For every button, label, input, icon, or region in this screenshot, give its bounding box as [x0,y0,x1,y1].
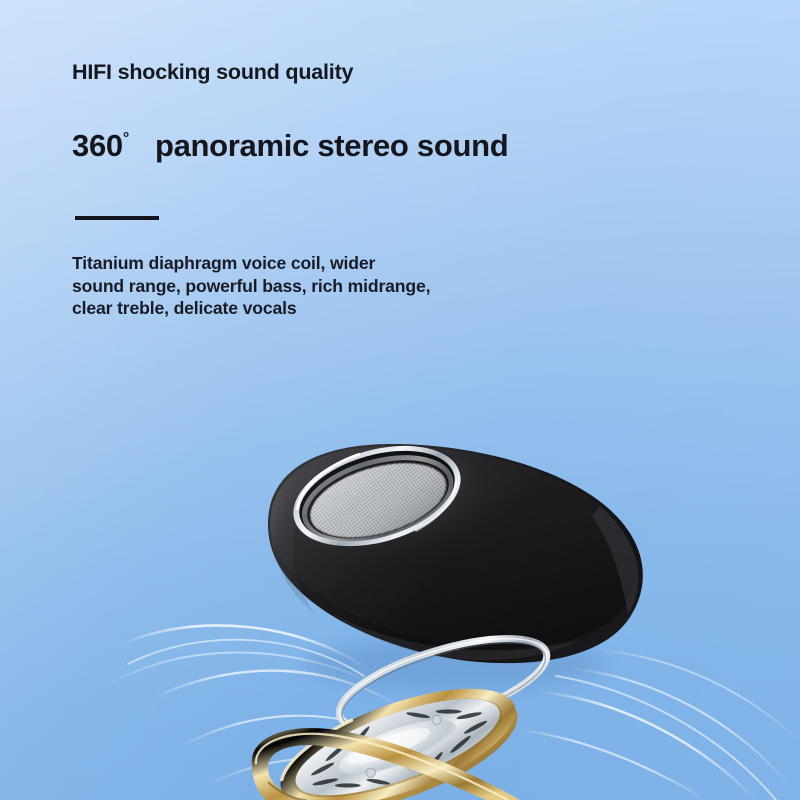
grille-bezel-outer [282,428,473,564]
grille-mesh-shading [302,449,455,551]
product-marketing-poster: HIFI shocking sound quality 360°panorami… [0,0,800,800]
driver-vents [300,686,497,800]
gold-band-highlight [256,734,508,800]
grille-mesh [302,449,455,551]
page-title: 360°panoramic stereo sound [72,128,508,164]
shell-rim-light [270,446,372,616]
speaker-grille-assembly [282,428,473,564]
speaker-shell [268,444,643,663]
floating-chrome-ring [330,620,557,749]
driver-plate [285,679,511,800]
driver-boss-left [365,767,377,779]
grille-bezel-inner-shadow [289,435,465,558]
sound-wave-arcs-front [128,640,776,800]
kicker-heading: HIFI shocking sound quality [72,60,353,85]
bezel-highlight-2 [406,482,466,531]
chrome-ring-shade [333,625,554,748]
driver-assembly [266,664,531,800]
chrome-ring-highlight [330,620,556,748]
gold-band-shape [252,728,520,800]
shell-body [268,444,643,663]
gold-band-lower [252,728,520,800]
shell-top [270,446,636,648]
gold-ring-inner-shade [283,678,513,800]
grille-cavity [298,446,458,554]
shell-tip-highlight [592,506,639,614]
driver-dome [333,709,462,785]
background-sheen [0,0,800,800]
driver-boss-bottom [406,761,416,771]
bezel-highlight [288,454,369,508]
gold-ring [266,664,529,800]
shell-gloss [282,454,611,625]
grille-bezel-lip [292,439,463,557]
driver-boss-right [431,714,443,726]
shell-shadow [305,638,605,690]
degree-symbol: ° [123,130,129,147]
driver-dome-highlight [344,722,434,771]
headline-rest: panoramic stereo sound [155,128,508,163]
chrome-ring-band [330,620,556,748]
gold-ring-back [268,670,531,800]
shell-bottom-sheen [330,612,580,660]
gold-ring-highlight [271,720,363,779]
gold-band-shade [268,782,306,800]
headline-number: 360 [72,128,123,163]
divider-rule [75,216,159,220]
sound-wave-arcs [100,625,800,800]
body-description: Titanium diaphragm voice coil, wider sou… [72,252,430,320]
product-illustration [0,0,800,800]
